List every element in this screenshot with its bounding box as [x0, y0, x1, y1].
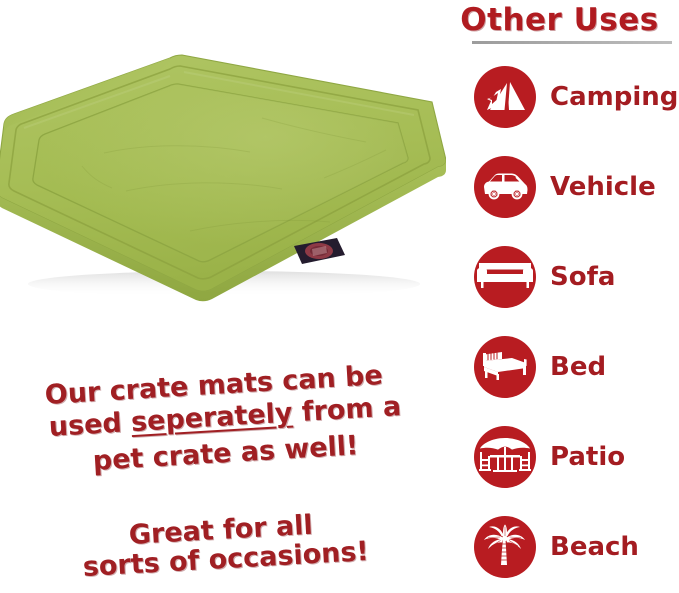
use-item-vehicle[interactable]: Vehicle	[440, 142, 679, 232]
product-photo	[0, 48, 446, 306]
title-divider	[472, 41, 672, 44]
car-icon	[474, 156, 536, 218]
use-label-camping: Camping	[550, 84, 678, 110]
use-label-vehicle: Vehicle	[550, 174, 656, 200]
use-label-beach: Beach	[550, 534, 639, 560]
other-uses-list: Camping	[440, 52, 679, 592]
use-item-beach[interactable]: Beach	[440, 502, 679, 592]
crate-mat-illustration	[0, 48, 446, 306]
use-label-patio: Patio	[550, 444, 625, 470]
infographic-root: Our crate mats can be used seperately fr…	[0, 0, 679, 593]
bed-icon	[474, 336, 536, 398]
use-item-camping[interactable]: Camping	[440, 52, 679, 142]
tent-icon	[474, 66, 536, 128]
use-item-sofa[interactable]: Sofa	[440, 232, 679, 322]
slogan-secondary-line2: sorts of occasions!	[82, 536, 370, 583]
slogan-primary: Our crate mats can be used seperately fr…	[0, 376, 440, 496]
use-label-sofa: Sofa	[550, 264, 615, 290]
patio-umbrella-icon	[474, 426, 536, 488]
use-label-bed: Bed	[550, 354, 606, 380]
other-uses-title: Other Uses	[440, 2, 679, 38]
use-item-patio[interactable]: Patio	[440, 412, 679, 502]
palm-tree-icon	[474, 516, 536, 578]
slogan-secondary: Great for all sorts of occasions!	[0, 518, 440, 593]
use-item-bed[interactable]: Bed	[440, 322, 679, 412]
other-uses-pane: Other Uses Camping	[440, 0, 679, 593]
product-image-pane: Our crate mats can be used seperately fr…	[0, 0, 440, 593]
slogan-primary-line2-post: from a	[292, 391, 402, 428]
slogan-primary-line2-pre: used	[48, 407, 132, 443]
sofa-icon	[474, 246, 536, 308]
